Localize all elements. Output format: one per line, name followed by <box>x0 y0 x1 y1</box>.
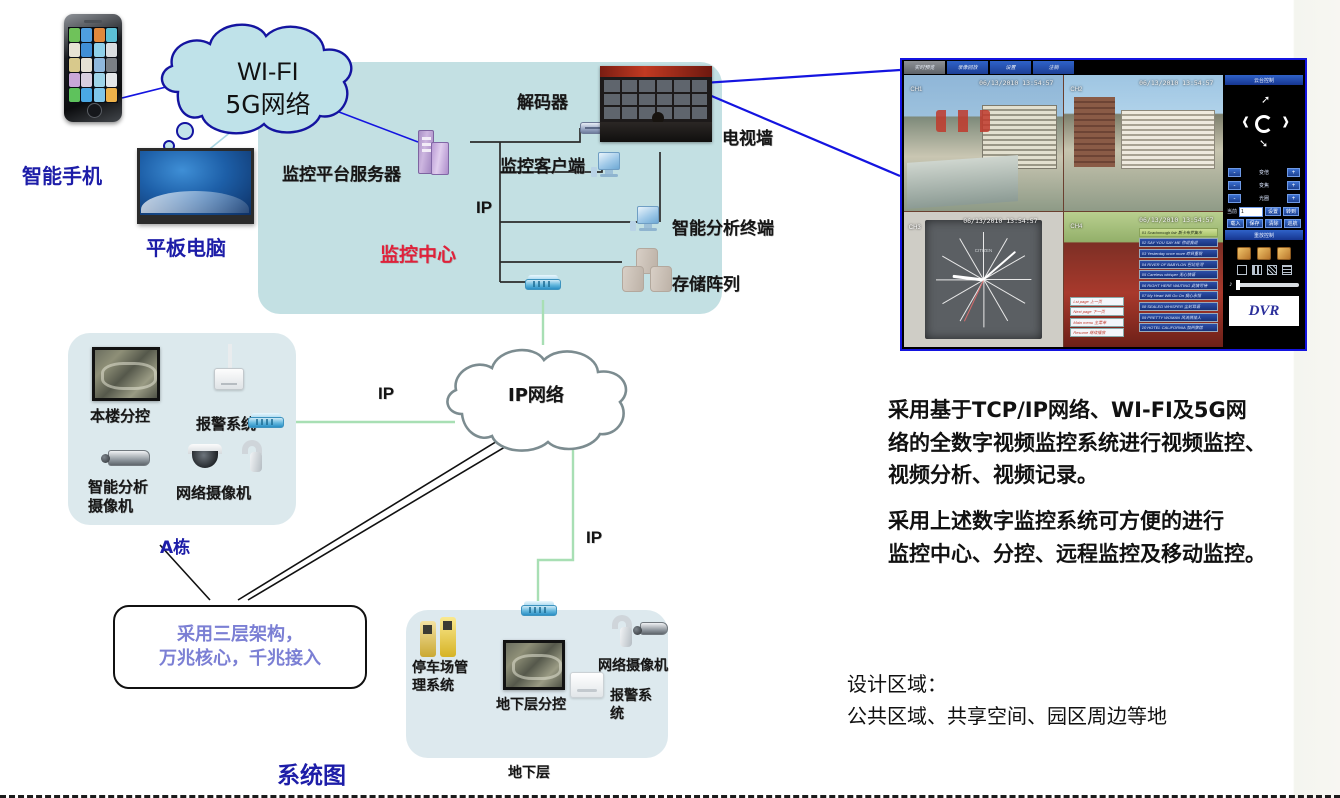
ch1-timestamp: 06/13/2010 13:54:57 <box>979 79 1053 87</box>
label-ip-left: IP <box>378 384 394 404</box>
playlist-item[interactable]: 03 Yesterday once more 昨日重现 <box>1139 249 1219 258</box>
ch4-timestamp: 06/13/2010 13:54:57 <box>1139 216 1213 224</box>
core-switch-icon <box>525 275 561 292</box>
description-paragraph-1: 采用基于TCP/IP网络、WI-FI及5G网 络的全数字视频监控系统进行视频监控… <box>888 394 1308 492</box>
label-network-camera-basement: 网络摄像机 <box>598 655 668 675</box>
local-sub-control-screen <box>92 347 160 401</box>
platform-server-icon <box>418 130 452 178</box>
playlist-item[interactable]: 04 RIVER OF BABYLON 巴比伦河 <box>1139 260 1219 269</box>
label-basement-sub-control: 地下层分控 <box>496 694 566 714</box>
focus-label: 变焦 <box>1244 182 1284 189</box>
phone-speaker <box>84 20 102 23</box>
basement-alarm-system-icon <box>570 672 604 698</box>
iris-label: 光圈 <box>1244 195 1284 202</box>
ptz-left-arrow-icon[interactable]: ❰ <box>1241 117 1250 128</box>
ptz-center-dial[interactable] <box>1255 115 1273 133</box>
wifi-cloud-text: WI-FI 5G网络 <box>198 58 338 121</box>
playback-icon-row[interactable] <box>1225 242 1303 263</box>
ptz-down-arrow-icon[interactable]: ➘ <box>1259 139 1268 150</box>
dome-camera-icon <box>188 444 222 470</box>
ch4-label: CH4 <box>1070 224 1082 230</box>
zoom-label: 变倍 <box>1244 169 1284 176</box>
playlist-resume-button[interactable]: Resume 继续播放 <box>1070 328 1124 337</box>
label-local-sub-control: 本楼分控 <box>90 405 150 426</box>
basement-bullet-camera-icon <box>640 622 668 635</box>
ch1-red-signage <box>936 110 990 132</box>
layout-2x2-icon[interactable] <box>1252 265 1262 275</box>
layout-1x1-icon[interactable] <box>1237 265 1247 275</box>
speaker-icon: ♪ <box>1229 281 1233 288</box>
label-monitoring-center-zone: 监控中心 <box>380 240 456 267</box>
alarm-antenna-stem <box>228 344 232 370</box>
playlist-item[interactable]: 06 RIGHT HERE WAITING 此情可待 <box>1139 281 1219 290</box>
preset-set-button[interactable]: 设置 <box>1265 207 1281 216</box>
ch2-office-building <box>1121 110 1215 169</box>
label-smart-analysis-camera: 智能分析 摄像机 <box>88 478 148 516</box>
label-alarm-system-a: 报警系统 <box>196 413 256 434</box>
ptz-up-arrow-icon[interactable]: ➚ <box>1261 95 1270 106</box>
dvr-channel-2[interactable]: 06/13/2010 13:54:57 CH2 <box>1064 75 1223 211</box>
save-button[interactable]: 保存 <box>1246 219 1263 228</box>
playlist-prev-page-button[interactable]: Lst page 上一页 <box>1070 297 1124 306</box>
thought-dot-large <box>176 122 194 140</box>
label-smartphone: 智能手机 <box>22 160 102 189</box>
label-basement-zone: 地下层 <box>508 762 550 782</box>
label-smart-analysis-terminal: 智能分析终端 <box>672 214 774 239</box>
clear-button[interactable]: 清除 <box>1265 219 1282 228</box>
playlist-item[interactable]: 05 Careless whisper 无心快语 <box>1139 270 1219 279</box>
ptz-focus-row[interactable]: - 变焦 + <box>1225 180 1303 191</box>
tv-wall-icon <box>600 66 712 142</box>
basement-sub-control-screen <box>503 640 565 690</box>
playlist-main-menu-button[interactable]: Main menu 主菜单 <box>1070 318 1124 327</box>
storage-array-icon <box>620 248 676 292</box>
label-network-camera-a: 网络摄像机 <box>176 482 251 503</box>
label-tablet: 平板电脑 <box>146 232 226 261</box>
dvr-screenshot: 实时预览 录像回放 设置 注销 06/13/2010 13:54:57 CH1 … <box>900 58 1307 351</box>
tablet-device <box>137 148 254 224</box>
playlist-item[interactable]: 10 HOTEL CALIFORNIA 加州旅馆 <box>1139 323 1219 332</box>
design-area-title: 设计区域： <box>847 668 947 697</box>
ptz-camera-icon <box>236 440 270 474</box>
architecture-callout: 采用三层架构， 万兆核心，千兆接入 <box>113 605 367 689</box>
playback-panel-title: 重放控制 <box>1225 230 1303 240</box>
wifi-cloud-line2: 5G网络 <box>198 85 338 121</box>
ptz-action-row[interactable]: 载入 保存 清除 巡航 <box>1225 219 1303 228</box>
dvr-video-grid: 06/13/2010 13:54:57 CH1 06/13/2010 13:54… <box>904 75 1223 347</box>
playlist-item[interactable]: 02 SAY YOU SAY ME 你说我说 <box>1139 238 1219 247</box>
label-alarm-system-basement: 报警系 统 <box>610 688 652 723</box>
preset-goto-button[interactable]: 转到 <box>1283 207 1299 216</box>
slide-canvas: 智能手机 WI-FI 5G网络 平板电脑 监控平台服务器 解码器 电视墙 监控客… <box>0 0 1340 798</box>
smart-analysis-camera-icon <box>108 450 150 466</box>
phone-home-button <box>87 103 102 118</box>
ch3-analog-clock: CITIZEN <box>921 216 1047 343</box>
building-a-switch-icon <box>248 413 284 430</box>
cruise-button[interactable]: 巡航 <box>1284 219 1301 228</box>
iris-plus-button[interactable]: + <box>1287 194 1300 203</box>
parking-management-icon <box>420 617 466 657</box>
dvr-logo: DVR <box>1229 296 1299 326</box>
zoom-minus-button[interactable]: - <box>1228 168 1241 177</box>
focus-minus-button[interactable]: - <box>1228 181 1241 190</box>
ptz-right-arrow-icon[interactable]: ❱ <box>1281 117 1290 128</box>
layout-4x4-icon[interactable] <box>1282 265 1292 275</box>
ch2-timestamp: 06/13/2010 13:54:57 <box>1139 79 1213 87</box>
ch2-label: CH2 <box>1070 87 1082 93</box>
iris-minus-button[interactable]: - <box>1228 194 1241 203</box>
zoom-plus-button[interactable]: + <box>1287 168 1300 177</box>
dvr-tab-settings[interactable]: 设置 <box>990 61 1031 74</box>
dvr-tab-live[interactable]: 实时预览 <box>904 61 945 74</box>
dvr-tab-logout[interactable]: 注销 <box>1033 61 1074 74</box>
alarm-system-icon-a <box>214 368 244 390</box>
label-ip-right: IP <box>586 528 602 548</box>
playlist-item[interactable]: 01 Scarborough fair 斯卡布罗集市 <box>1139 228 1219 237</box>
label-tv-wall: 电视墙 <box>722 124 773 149</box>
page-title: 系统图 <box>277 756 346 790</box>
basement-switch-icon <box>521 601 557 618</box>
tv-wall-top-band <box>600 66 712 77</box>
smart-analysis-terminal-icon <box>637 206 659 231</box>
load-button[interactable]: 载入 <box>1227 219 1244 228</box>
design-area-value: 公共区域、共享空间、园区周边等地 <box>847 700 1167 729</box>
description-paragraph-2: 采用上述数字监控系统可方便的进行 监控中心、分控、远程监控及移动监控。 <box>888 505 1308 570</box>
playlist-item[interactable]: 09 PRETTY WOMAN 风流俏佳人 <box>1139 313 1219 322</box>
dvr-channel-4[interactable]: 06/13/2010 13:54:57 CH4 01 Scarborough f… <box>1064 212 1223 348</box>
ptz-iris-row[interactable]: - 光圈 + <box>1225 193 1303 204</box>
layout-icon-row[interactable] <box>1225 265 1303 279</box>
phone-app-grid <box>68 27 118 103</box>
record-icon[interactable] <box>1257 247 1271 260</box>
monitor-client-icon <box>598 152 620 177</box>
preset-row[interactable]: 当前 设置 转到 <box>1225 206 1303 217</box>
label-decoder: 解码器 <box>517 88 568 113</box>
ptz-panel-title: 云台控制 <box>1225 75 1303 85</box>
playlist-next-page-button[interactable]: Next page 下一页 <box>1070 307 1124 316</box>
ch3-label: CH3 <box>909 225 921 231</box>
preset-input[interactable] <box>1239 207 1263 217</box>
label-ip-network-cloud: IP网络 <box>508 381 564 407</box>
label-parking-management: 停车场管 理系统 <box>412 660 468 695</box>
smartphone-device <box>64 14 122 122</box>
label-ip-center: IP <box>476 198 492 218</box>
tv-wall-desk <box>600 122 712 142</box>
playlist-item[interactable]: 08 SEALED WHISPER 尘封耳语 <box>1139 302 1219 311</box>
snapshot-icon[interactable] <box>1237 247 1251 260</box>
dvr-playlist-buttons[interactable]: Lst page 上一页 Next page 下一页 Main menu 主菜单… <box>1070 297 1124 339</box>
focus-plus-button[interactable]: + <box>1287 181 1300 190</box>
dvr-main-body: 06/13/2010 13:54:57 CH1 06/13/2010 13:54… <box>904 75 1303 347</box>
label-storage-array: 存储阵列 <box>672 270 740 295</box>
label-monitor-client: 监控客户端 <box>500 152 585 177</box>
ch3-timestamp: 06/13/2010 13:54:57 <box>963 217 1037 225</box>
dvr-channel-3[interactable]: CITIZEN <box>904 212 1063 348</box>
ptz-zoom-row[interactable]: - 变倍 + <box>1225 167 1303 178</box>
dvr-tab-bar[interactable]: 实时预览 录像回放 设置 注销 <box>904 61 1074 74</box>
dvr-side-panel: 云台控制 ➚ ❰ ❱ ➘ - 变倍 + - 变焦 + <box>1223 75 1303 347</box>
wifi-cloud-line1: WI-FI <box>198 58 338 87</box>
architecture-callout-text: 采用三层架构， 万兆核心，千兆接入 <box>159 623 321 671</box>
preset-label: 当前 <box>1227 208 1237 215</box>
clock-minute-hand <box>983 251 1017 281</box>
label-platform-server: 监控平台服务器 <box>282 160 401 185</box>
ch1-label: CH1 <box>910 87 922 93</box>
archive-icon[interactable] <box>1277 247 1291 260</box>
ptz-direction-pad[interactable]: ➚ ❰ ❱ ➘ <box>1225 87 1303 165</box>
layout-3x3-icon[interactable] <box>1267 265 1277 275</box>
volume-slider-knob[interactable] <box>1236 280 1240 290</box>
dvr-playlist[interactable]: 01 Scarborough fair 斯卡布罗集市 02 SAY YOU SA… <box>1139 228 1219 334</box>
ch1-rooftop <box>907 155 1018 209</box>
ch2-tower-building <box>1074 97 1115 167</box>
volume-slider-row[interactable]: ♪ <box>1225 281 1303 292</box>
label-building-a-zone: A栋 <box>160 533 190 558</box>
dvr-tab-playback[interactable]: 录像回放 <box>947 61 988 74</box>
playlist-item[interactable]: 07 My Heart Will Go On 我心永恒 <box>1139 291 1219 300</box>
volume-slider-track[interactable] <box>1236 283 1300 287</box>
dvr-channel-1[interactable]: 06/13/2010 13:54:57 CH1 <box>904 75 1063 211</box>
